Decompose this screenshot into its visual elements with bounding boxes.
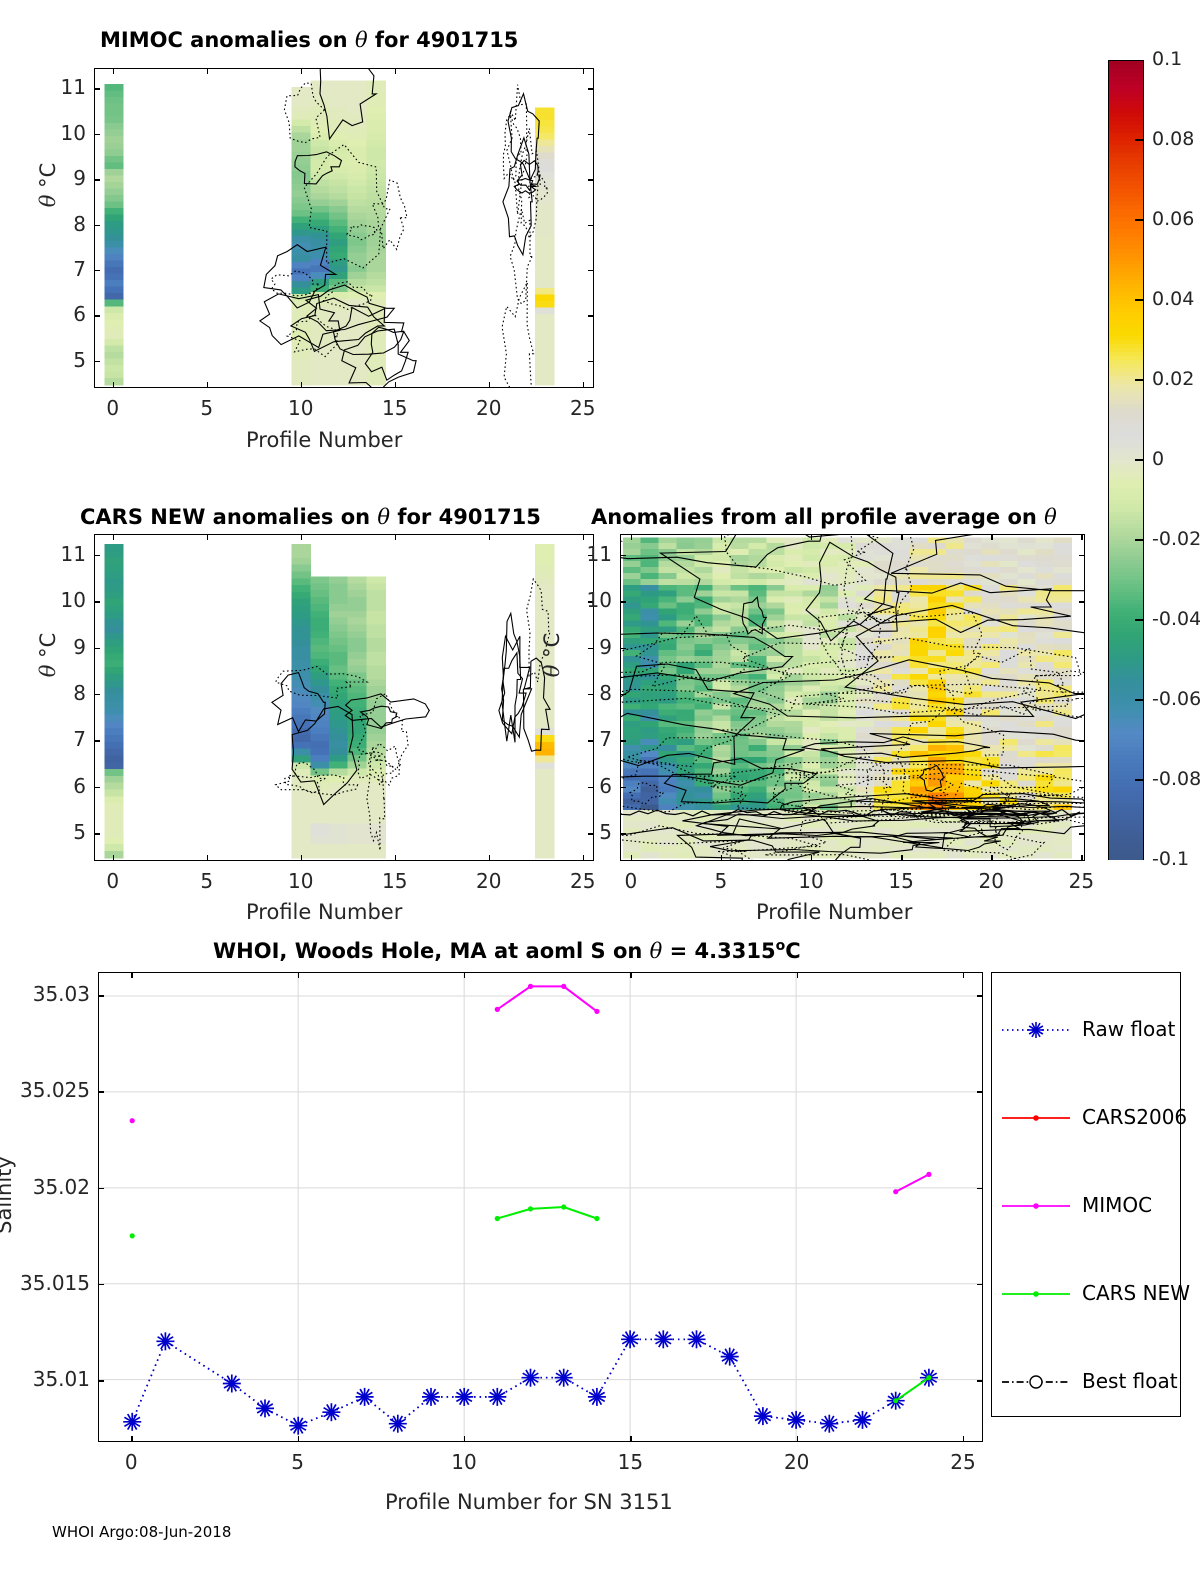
heatmap-cell (1018, 733, 1037, 740)
heatmap-cell (104, 182, 123, 189)
heatmap-cell (659, 597, 678, 604)
heatmap-cell (1036, 656, 1055, 663)
heatmap-cell (292, 599, 311, 606)
heatmap-cell (766, 686, 785, 693)
x-tick-label: 0 (617, 869, 645, 893)
heatmap-cell (292, 307, 311, 314)
x-tick-label: 0 (117, 1450, 145, 1474)
heatmap-cell (748, 846, 767, 853)
heatmap-cell (641, 703, 660, 710)
heatmap-cell (910, 727, 929, 734)
heatmap-cell (641, 775, 660, 782)
legend-label[interactable]: Best float (1082, 1369, 1178, 1393)
x-tick-label: 20 (475, 869, 503, 893)
heatmap-cell (713, 804, 732, 811)
heatmap-cell (946, 614, 965, 621)
heatmap-cell (104, 721, 123, 728)
heatmap-cell (623, 668, 642, 675)
heatmap-cell (623, 609, 642, 616)
heatmap-cell (910, 733, 929, 740)
axis-tick (991, 855, 992, 861)
heatmap-cell (874, 650, 893, 657)
heatmap-cell (292, 171, 311, 178)
y-tick-label: 11 (530, 542, 612, 566)
data-marker (854, 1411, 872, 1429)
heatmap-cell (713, 739, 732, 746)
axis-tick (631, 534, 632, 540)
heatmap-cell (982, 686, 1001, 693)
data-marker (561, 984, 566, 989)
heatmap-cell (802, 656, 821, 663)
heatmap-cell (104, 844, 123, 851)
heatmap-cell (838, 727, 857, 734)
heatmap-cell (820, 775, 839, 782)
heatmap-cell (310, 100, 329, 107)
theta-symbol: θ (36, 195, 60, 208)
heatmap-cell (677, 585, 696, 592)
heatmap-cell (366, 796, 385, 803)
heatmap-cell (348, 166, 367, 173)
heatmap-cell (329, 652, 348, 659)
heatmap-cell (366, 604, 385, 611)
heatmap-cell (695, 609, 714, 616)
heatmap-cell (659, 644, 678, 651)
heatmap-cell (310, 782, 329, 789)
heatmap-cell (310, 645, 329, 652)
heatmap-cell (748, 573, 767, 580)
heatmap-cell (964, 656, 983, 663)
heatmap-cell (292, 145, 311, 152)
axis-tick (977, 1091, 983, 1092)
heatmap-cell (292, 229, 311, 236)
heatmap-cell (713, 591, 732, 598)
heatmap-cell (104, 551, 123, 558)
heatmap-cell (964, 721, 983, 728)
heatmap-cell (982, 650, 1001, 657)
contour-line (502, 282, 533, 388)
heatmap-cell (820, 656, 839, 663)
heatmap-cell (310, 590, 329, 597)
heatmap-cell (1018, 549, 1037, 556)
heatmap-cell (366, 817, 385, 824)
heatmap-cell (766, 537, 785, 544)
heatmap-cell (695, 781, 714, 788)
heatmap-cell (713, 638, 732, 645)
heatmap-cell (292, 592, 311, 599)
x-tick-label: 0 (99, 869, 127, 893)
heatmap-cell (366, 107, 385, 114)
heatmap-cell (366, 140, 385, 147)
heatmap-cell (659, 727, 678, 734)
heatmap-cell (856, 603, 875, 610)
heatmap-cell (104, 599, 123, 606)
degree-superscript: o (776, 938, 786, 954)
heatmap-cell (695, 638, 714, 645)
axis-tick (464, 972, 465, 978)
heatmap-cell (982, 751, 1001, 758)
heatmap-cell (104, 280, 123, 287)
heatmap-cell (310, 325, 329, 332)
heatmap-cell (623, 579, 642, 586)
heatmap-cell (659, 804, 678, 811)
heatmap-cell (329, 817, 348, 824)
heatmap-cell (348, 246, 367, 253)
heatmap-cell (928, 692, 947, 699)
heatmap-cell (292, 633, 311, 640)
heatmap-cell (348, 140, 367, 147)
heatmap-cell (1053, 573, 1072, 580)
heatmap-cell (1018, 763, 1037, 770)
heatmap-cell (766, 561, 785, 568)
heatmap-cell (623, 638, 642, 645)
heatmap-cell (310, 193, 329, 200)
heatmap-cell (1036, 686, 1055, 693)
heatmap-cell (104, 156, 123, 163)
heatmap-cell (641, 721, 660, 728)
heatmap-cell (820, 585, 839, 592)
axis-tick (113, 68, 114, 74)
heatmap-cell (910, 597, 929, 604)
data-marker (156, 1332, 174, 1350)
heatmap-cell (892, 650, 911, 657)
heatmap-cell (104, 694, 123, 701)
heatmap-cell (1018, 638, 1037, 645)
heatmap-cell (104, 660, 123, 667)
heatmap-cell (310, 199, 329, 206)
heatmap-cell (856, 763, 875, 770)
heatmap-cell (946, 686, 965, 693)
heatmap-cell (1000, 573, 1019, 580)
legend-label[interactable]: MIMOC (1082, 1193, 1152, 1217)
heatmap-cell (329, 611, 348, 618)
heatmap-cell (310, 625, 329, 632)
legend-label[interactable]: CARS2006 (1082, 1105, 1187, 1129)
panel2-xlabel: Profile Number (246, 900, 402, 924)
heatmap-cell (838, 709, 857, 716)
heatmap-cell (1018, 721, 1037, 728)
heatmap-cell (329, 80, 348, 87)
heatmap-cell (104, 372, 123, 379)
heatmap-cell (1018, 745, 1037, 752)
axis-tick (620, 787, 626, 788)
panel3-title: Anomalies from all profile average on θ (591, 505, 1057, 529)
panel-mimoc-anomalies[interactable] (94, 68, 594, 388)
axis-tick (98, 995, 104, 996)
heatmap-cell (856, 680, 875, 687)
heatmap-cell (329, 851, 348, 858)
heatmap-cell (928, 757, 947, 764)
panel2-title-pre: CARS NEW anomalies on (80, 505, 377, 529)
heatmap-cell (659, 787, 678, 794)
heatmap-cell (366, 631, 385, 638)
heatmap-cell (292, 87, 311, 94)
heatmap-cell (366, 652, 385, 659)
heatmap-cell (856, 715, 875, 722)
heatmap-cell (748, 709, 767, 716)
x-tick-label: 15 (381, 869, 409, 893)
heatmap-cell (659, 573, 678, 580)
heatmap-cell (104, 749, 123, 756)
heatmap-cell (1053, 591, 1072, 598)
legend-label[interactable]: CARS NEW (1082, 1281, 1190, 1305)
heatmap-cell (982, 703, 1001, 710)
heatmap-cell (695, 644, 714, 651)
heatmap-cell (348, 851, 367, 858)
heatmap-cell (348, 721, 367, 728)
heatmap-cell (366, 830, 385, 837)
axis-tick (620, 833, 626, 834)
heatmap-cell (748, 751, 767, 758)
axis-tick (94, 648, 100, 649)
panel-cars-new-anomalies[interactable] (94, 534, 594, 861)
heatmap-cell (329, 666, 348, 673)
heatmap-cell (892, 775, 911, 782)
heatmap-cell (348, 830, 367, 837)
heatmap-cell (748, 549, 767, 556)
heatmap-cell (784, 597, 803, 604)
heatmap-cell (802, 709, 821, 716)
heatmap-cell (366, 576, 385, 583)
axis-tick (630, 972, 631, 978)
heatmap-cell (348, 180, 367, 187)
data-marker (130, 1118, 135, 1123)
heatmap-cell (838, 715, 857, 722)
heatmap-cell (310, 272, 329, 279)
heatmap-cell (104, 293, 123, 300)
x-tick-label: 0 (99, 396, 127, 420)
heatmap-cell (1018, 656, 1037, 663)
heatmap-cell (535, 282, 554, 289)
x-tick-label: 10 (797, 869, 825, 893)
axis-tick (301, 534, 302, 540)
heatmap-cell (292, 100, 311, 107)
heatmap-cell (104, 667, 123, 674)
heatmap-cell (104, 708, 123, 715)
colorbar-tick (1135, 459, 1144, 461)
heatmap-cell (329, 299, 348, 306)
heatmap-cell (695, 703, 714, 710)
heatmap-cell (820, 561, 839, 568)
heatmap-cell (641, 834, 660, 841)
heatmap-cell (677, 579, 696, 586)
heatmap-cell (348, 365, 367, 372)
heatmap-cell (748, 674, 767, 681)
contour-line (503, 115, 521, 181)
heatmap-cell (329, 338, 348, 345)
heatmap-cell (766, 597, 785, 604)
heatmap-cell (329, 259, 348, 266)
heatmap-cell (366, 611, 385, 618)
heatmap-cell (1018, 543, 1037, 550)
heatmap-cell (292, 249, 311, 256)
heatmap-cell (677, 680, 696, 687)
data-marker (893, 1398, 898, 1403)
heatmap-cell (659, 614, 678, 621)
heatmap-cell (292, 660, 311, 667)
panel2-title: CARS NEW anomalies on θ for 4901715 (80, 505, 541, 529)
heatmap-cell (659, 620, 678, 627)
heatmap-cell (766, 609, 785, 616)
heatmap-cell (1000, 781, 1019, 788)
heatmap-cell (1053, 674, 1072, 681)
data-marker (528, 1206, 533, 1211)
heatmap-cell (310, 611, 329, 618)
heatmap-cell (874, 537, 893, 544)
axis-tick (94, 833, 100, 834)
heatmap-cell (964, 573, 983, 580)
heatmap-cell (366, 714, 385, 721)
heatmap-cell (1053, 840, 1072, 847)
heatmap-cell (1018, 668, 1037, 675)
heatmap-cell (928, 828, 947, 835)
heatmap-cell (1036, 555, 1055, 562)
heatmap-cell (730, 638, 749, 645)
heatmap-cell (348, 133, 367, 140)
axis-tick (301, 68, 302, 74)
panel-all-profile-average-anomalies[interactable] (620, 534, 1085, 861)
heatmap-cell (348, 604, 367, 611)
heatmap-cell (892, 603, 911, 610)
heatmap-cell (892, 769, 911, 776)
heatmap-cell (1036, 603, 1055, 610)
heatmap-cell (1018, 840, 1037, 847)
axis-tick (1081, 534, 1082, 540)
heatmap-cell (348, 727, 367, 734)
heatmap-cell (677, 739, 696, 746)
heatmap-cell (366, 266, 385, 273)
heatmap-cell (928, 597, 947, 604)
heatmap-cell (1036, 692, 1055, 699)
heatmap-cell (348, 87, 367, 94)
heatmap-cell (677, 603, 696, 610)
heatmap-cell (928, 733, 947, 740)
heatmap-cell (838, 638, 857, 645)
heatmap-cell (348, 299, 367, 306)
heatmap-cell (104, 215, 123, 222)
heatmap-cell (1018, 769, 1037, 776)
data-marker (356, 1388, 374, 1406)
heatmap-cell (892, 567, 911, 574)
heatmap-cell (641, 543, 660, 550)
heatmap-cell (766, 781, 785, 788)
heatmap-cell (766, 614, 785, 621)
axis-tick (489, 534, 490, 540)
heatmap-cell (784, 739, 803, 746)
heatmap-cell (946, 775, 965, 782)
heatmap-cell (695, 579, 714, 586)
heatmap-cell (713, 751, 732, 758)
heatmap-cell (623, 603, 642, 610)
colorbar-tick (1135, 539, 1144, 541)
heatmap-cell (695, 620, 714, 627)
heatmap-cell (623, 715, 642, 722)
heatmap-cell (104, 715, 123, 722)
heatmap-cell (366, 87, 385, 94)
heatmap-cell (1018, 739, 1037, 746)
heatmap-cell (641, 549, 660, 556)
heatmap-cell (820, 650, 839, 657)
heatmap-cell (292, 824, 311, 831)
heatmap-cell (535, 120, 554, 127)
heatmap-cell (535, 127, 554, 134)
heatmap-cell (104, 228, 123, 235)
heatmap-cell (310, 372, 329, 379)
heatmap-cell (329, 837, 348, 844)
heatmap-cell (1036, 721, 1055, 728)
heatmap-cell (928, 567, 947, 574)
heatmap-cell (104, 776, 123, 783)
heatmap-cell (104, 90, 123, 97)
heatmap-cell (366, 120, 385, 127)
heatmap-cell (1036, 840, 1055, 847)
heatmap-cell (641, 609, 660, 616)
heatmap-cell (623, 846, 642, 853)
heatmap-cell (784, 603, 803, 610)
heatmap-cell (766, 787, 785, 794)
heatmap-cell (713, 614, 732, 621)
heatmap-cell (348, 94, 367, 101)
y-tick-label: 5 (4, 820, 86, 844)
heatmap-cell (946, 597, 965, 604)
heatmap-cell (641, 822, 660, 829)
heatmap-cell (766, 585, 785, 592)
heatmap-cell (677, 644, 696, 651)
heatmap-cell (348, 239, 367, 246)
heatmap-cell (348, 810, 367, 817)
heatmap-cell (1018, 674, 1037, 681)
heatmap-cell (623, 727, 642, 734)
heatmap-cell (892, 632, 911, 639)
axis-tick (721, 855, 722, 861)
heatmap-cell (713, 597, 732, 604)
heatmap-cell (802, 620, 821, 627)
heatmap-cell (310, 365, 329, 372)
heatmap-cell (310, 748, 329, 755)
panel-salinity-timeseries[interactable] (98, 972, 983, 1442)
axis-tick (901, 534, 902, 540)
y-tick-label: 9 (4, 166, 86, 190)
heatmap-cell (1053, 781, 1072, 788)
panel4-title: WHOI, Woods Hole, MA at aoml S on θ = 4.… (213, 938, 801, 963)
heatmap-cell (695, 656, 714, 663)
heatmap-cell (1018, 834, 1037, 841)
axis-tick (963, 972, 964, 978)
heatmap-cell (1053, 567, 1072, 574)
heatmap-cell (366, 80, 385, 87)
heatmap-cell (104, 742, 123, 749)
heatmap-cell (535, 320, 554, 327)
heatmap-cell (1018, 573, 1037, 580)
heatmap-cell (928, 579, 947, 586)
heatmap-cell (730, 787, 749, 794)
heatmap-cell (348, 652, 367, 659)
legend-label[interactable]: Raw float (1082, 1017, 1175, 1041)
heatmap-cell (766, 591, 785, 598)
heatmap-cell (366, 837, 385, 844)
heatmap-cell (292, 339, 311, 346)
heatmap-cell (946, 733, 965, 740)
heatmap-cell (982, 549, 1001, 556)
heatmap-cell (535, 314, 554, 321)
heatmap-cell (366, 279, 385, 286)
heatmap-cell (535, 301, 554, 308)
heatmap-cell (928, 674, 947, 681)
colorbar-tick-label: 0.08 (1152, 128, 1194, 150)
heatmap-cell (535, 204, 554, 211)
heatmap-cell (748, 769, 767, 776)
colorbar-tick-label: -0.06 (1152, 688, 1200, 710)
heatmap-cell (366, 133, 385, 140)
